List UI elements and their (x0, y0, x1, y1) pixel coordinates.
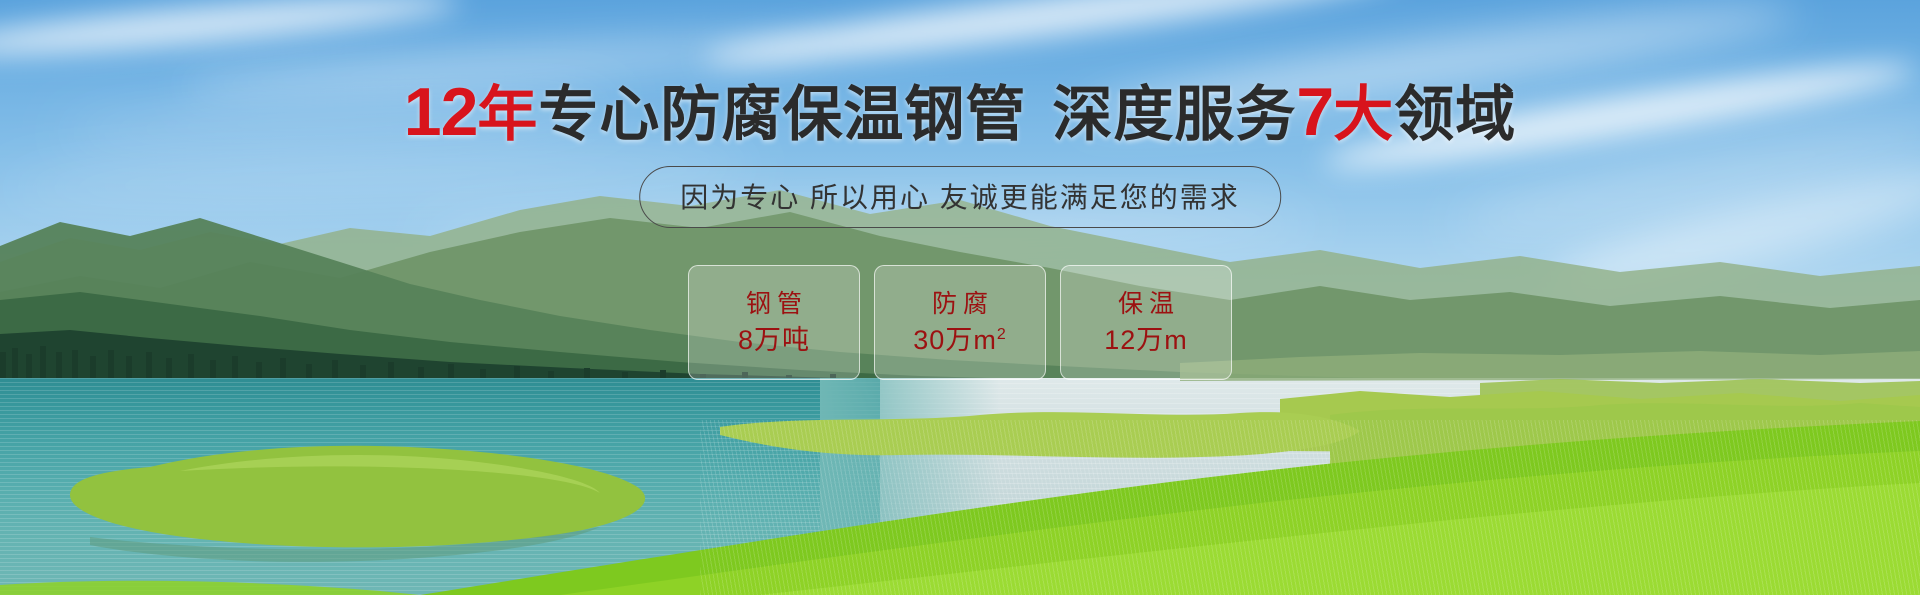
stat-card-value: 12万m (1104, 327, 1188, 354)
headline-years-unit: 年 (477, 81, 538, 148)
stat-card-value-superscript: 2 (997, 326, 1007, 343)
stat-card-label: 防腐 (926, 292, 994, 317)
stat-card-gangguan: 钢管 8万吨 (688, 265, 860, 380)
subtitle-pill: 因为专心 所以用心 友诚更能满足您的需求 (639, 166, 1281, 228)
headline-tail-text: 领域 (1394, 81, 1516, 148)
stat-card-label: 保温 (1112, 292, 1180, 317)
headline-highlight-number: 7 (1296, 74, 1333, 150)
subtitle-text: 因为专心 所以用心 友诚更能满足您的需求 (680, 182, 1240, 213)
promotional-banner: 12年专心防腐保温钢管深度服务7大领域 因为专心 所以用心 友诚更能满足您的需求… (0, 0, 1920, 595)
headline-main-text: 专心防腐保温钢管 (538, 81, 1026, 148)
stat-card-baowen: 保温 12万m (1060, 265, 1232, 380)
stat-card-group: 钢管 8万吨 防腐 30万m2 保温 12万m (688, 265, 1232, 380)
stat-card-value-text: 12万m (1104, 325, 1188, 355)
stat-card-fangfu: 防腐 30万m2 (874, 265, 1046, 380)
headline-highlight-unit: 大 (1333, 81, 1394, 148)
stat-card-value-text: 8万吨 (738, 325, 810, 355)
stat-card-label: 钢管 (740, 292, 808, 317)
headline-years-number: 12 (404, 74, 478, 150)
stat-card-value: 30万m2 (913, 327, 1006, 354)
headline-second-text: 深度服务 (1052, 81, 1296, 148)
stat-card-value: 8万吨 (738, 327, 810, 354)
banner-headline: 12年专心防腐保温钢管深度服务7大领域 (0, 78, 1920, 146)
stat-card-value-text: 30万m (913, 325, 997, 355)
